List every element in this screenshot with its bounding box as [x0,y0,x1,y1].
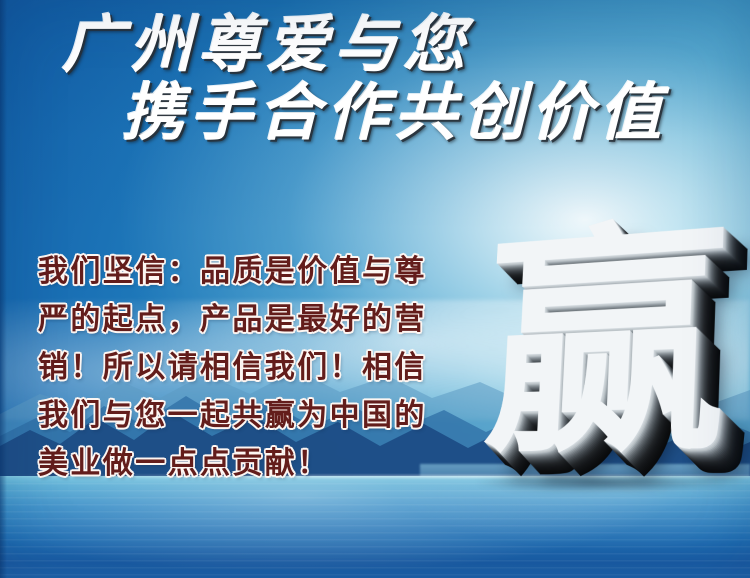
headline-line-2: 携手合作共创价值 [122,82,750,144]
body-copy-line-5: 美业做一点点贡献！ [38,440,468,488]
headline-block: 广州尊爱与您 携手合作共创价值 [0,14,750,144]
body-copy-line-3: 销！所以请相信我们！相信 [38,344,468,392]
body-copy-block: 我们坚信：品质是价值与尊 严的起点，产品是最好的营 销！所以请相信我们！相信 我… [38,248,468,488]
three-d-character-sculpture: 赢 [452,196,740,486]
headline-line-1: 广州尊爱与您 [62,14,750,76]
sculpture-ground-shadow [476,476,726,492]
body-copy-line-4: 我们与您一起共赢为中国的 [38,392,468,440]
body-copy-line-1: 我们坚信：品质是价值与尊 [38,248,468,296]
body-copy-line-2: 严的起点，产品是最好的营 [38,296,468,344]
promo-banner: 赢 赢 广州尊爱与您 携手合作共创价值 我们坚信：品质是价值与尊 严的起点，产品… [0,0,750,578]
sculpture-glyph: 赢 [461,193,750,486]
